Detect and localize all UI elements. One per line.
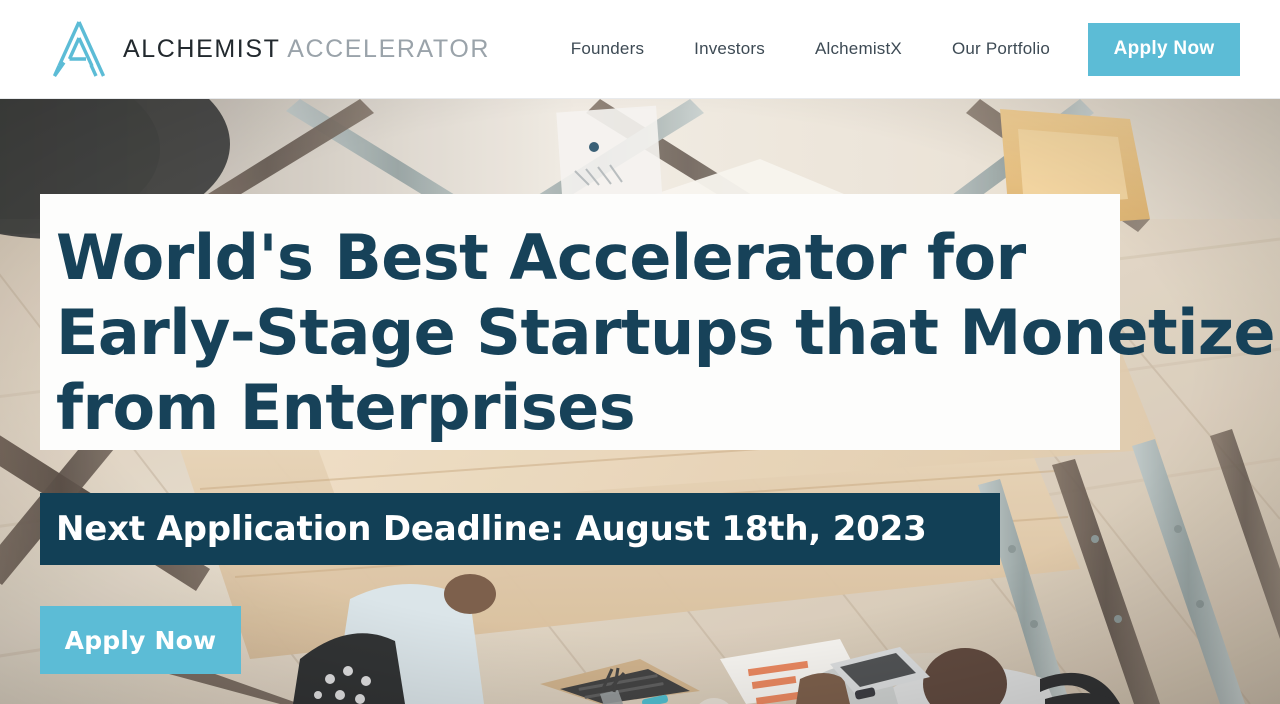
hero-section: World's Best Accelerator for Early-Stage… bbox=[0, 99, 1280, 704]
primary-navigation: Founders Investors AlchemistX Our Portfo… bbox=[571, 39, 1050, 59]
nav-item-founders[interactable]: Founders bbox=[571, 39, 644, 59]
site-header: ALCHEMIST ACCELERATOR Founders Investors… bbox=[0, 0, 1280, 99]
nav-item-our-portfolio[interactable]: Our Portfolio bbox=[952, 39, 1050, 59]
hero-headline-line-2: Early-Stage Startups that Monetize bbox=[56, 295, 1080, 370]
application-deadline-banner: Next Application Deadline: August 18th, … bbox=[40, 493, 1000, 565]
hero-headline-line-3: from Enterprises bbox=[56, 370, 1080, 445]
brand-word-primary: ALCHEMIST bbox=[123, 35, 280, 63]
nav-item-alchemistx[interactable]: AlchemistX bbox=[815, 39, 902, 59]
hero-apply-now-button[interactable]: Apply Now bbox=[40, 606, 241, 674]
brand-logo[interactable]: ALCHEMIST ACCELERATOR bbox=[50, 18, 490, 80]
brand-word-secondary: ACCELERATOR bbox=[287, 35, 490, 63]
alchemist-triangle-logo-icon bbox=[50, 18, 108, 80]
brand-wordmark: ALCHEMIST ACCELERATOR bbox=[123, 37, 490, 62]
hero-headline-line-1: World's Best Accelerator for bbox=[56, 220, 1080, 295]
hero-headline-panel: World's Best Accelerator for Early-Stage… bbox=[40, 194, 1120, 450]
header-apply-now-button[interactable]: Apply Now bbox=[1088, 23, 1240, 76]
nav-item-investors[interactable]: Investors bbox=[694, 39, 765, 59]
application-deadline-text: Next Application Deadline: August 18th, … bbox=[56, 509, 927, 549]
